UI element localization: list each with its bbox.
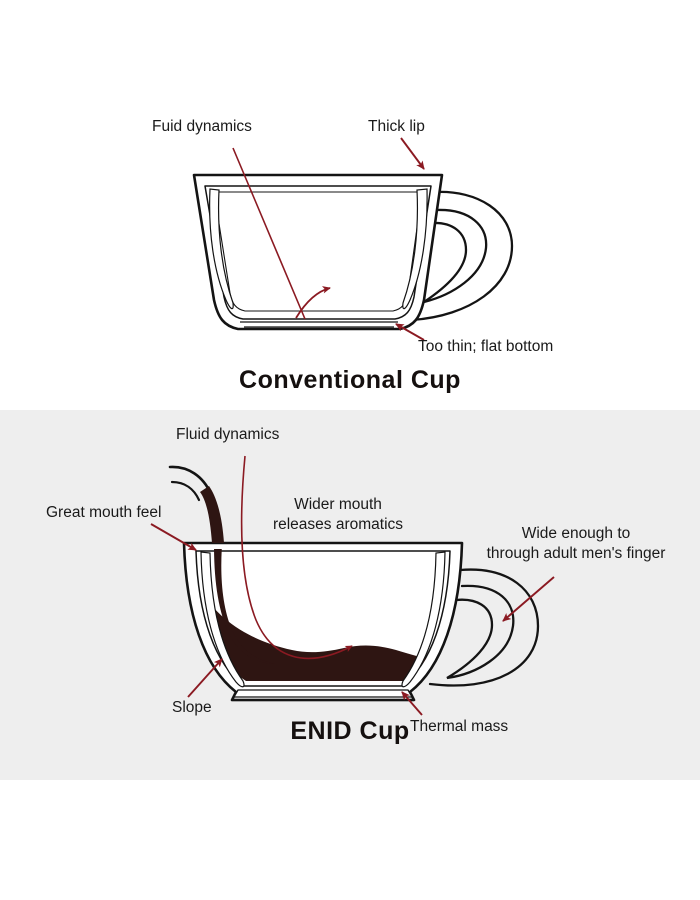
comparison-diagram: Fuid dynamics Thick lip Too thin; flat b… [0, 0, 700, 900]
title-enid-cup: ENID Cup [0, 717, 700, 746]
label-slope: Slope [172, 698, 212, 718]
label-great-mouth-feel: Great mouth feel [46, 503, 161, 523]
label-wider-mouth-releases-aromatics: Wider mouth releases aromatics [268, 495, 408, 535]
label-wide-enough-line-1: Wide enough to [480, 524, 672, 544]
label-too-thin-flat-bottom: Too thin; flat bottom [418, 337, 553, 357]
label-wider-mouth-line-2: releases aromatics [268, 515, 408, 535]
label-wide-enough-finger: Wide enough to through adult men's finge… [480, 524, 672, 564]
panel-conventional-cup [0, 0, 700, 410]
label-fluid-dynamics: Fluid dynamics [176, 425, 279, 445]
label-thick-lip: Thick lip [368, 117, 425, 137]
panel-footer-whitespace [0, 780, 700, 900]
title-conventional-cup: Conventional Cup [0, 366, 700, 395]
label-wide-enough-line-2: through adult men's finger [480, 544, 672, 564]
label-wider-mouth-line-1: Wider mouth [268, 495, 408, 515]
label-fuid-dynamics: Fuid dynamics [152, 117, 252, 137]
